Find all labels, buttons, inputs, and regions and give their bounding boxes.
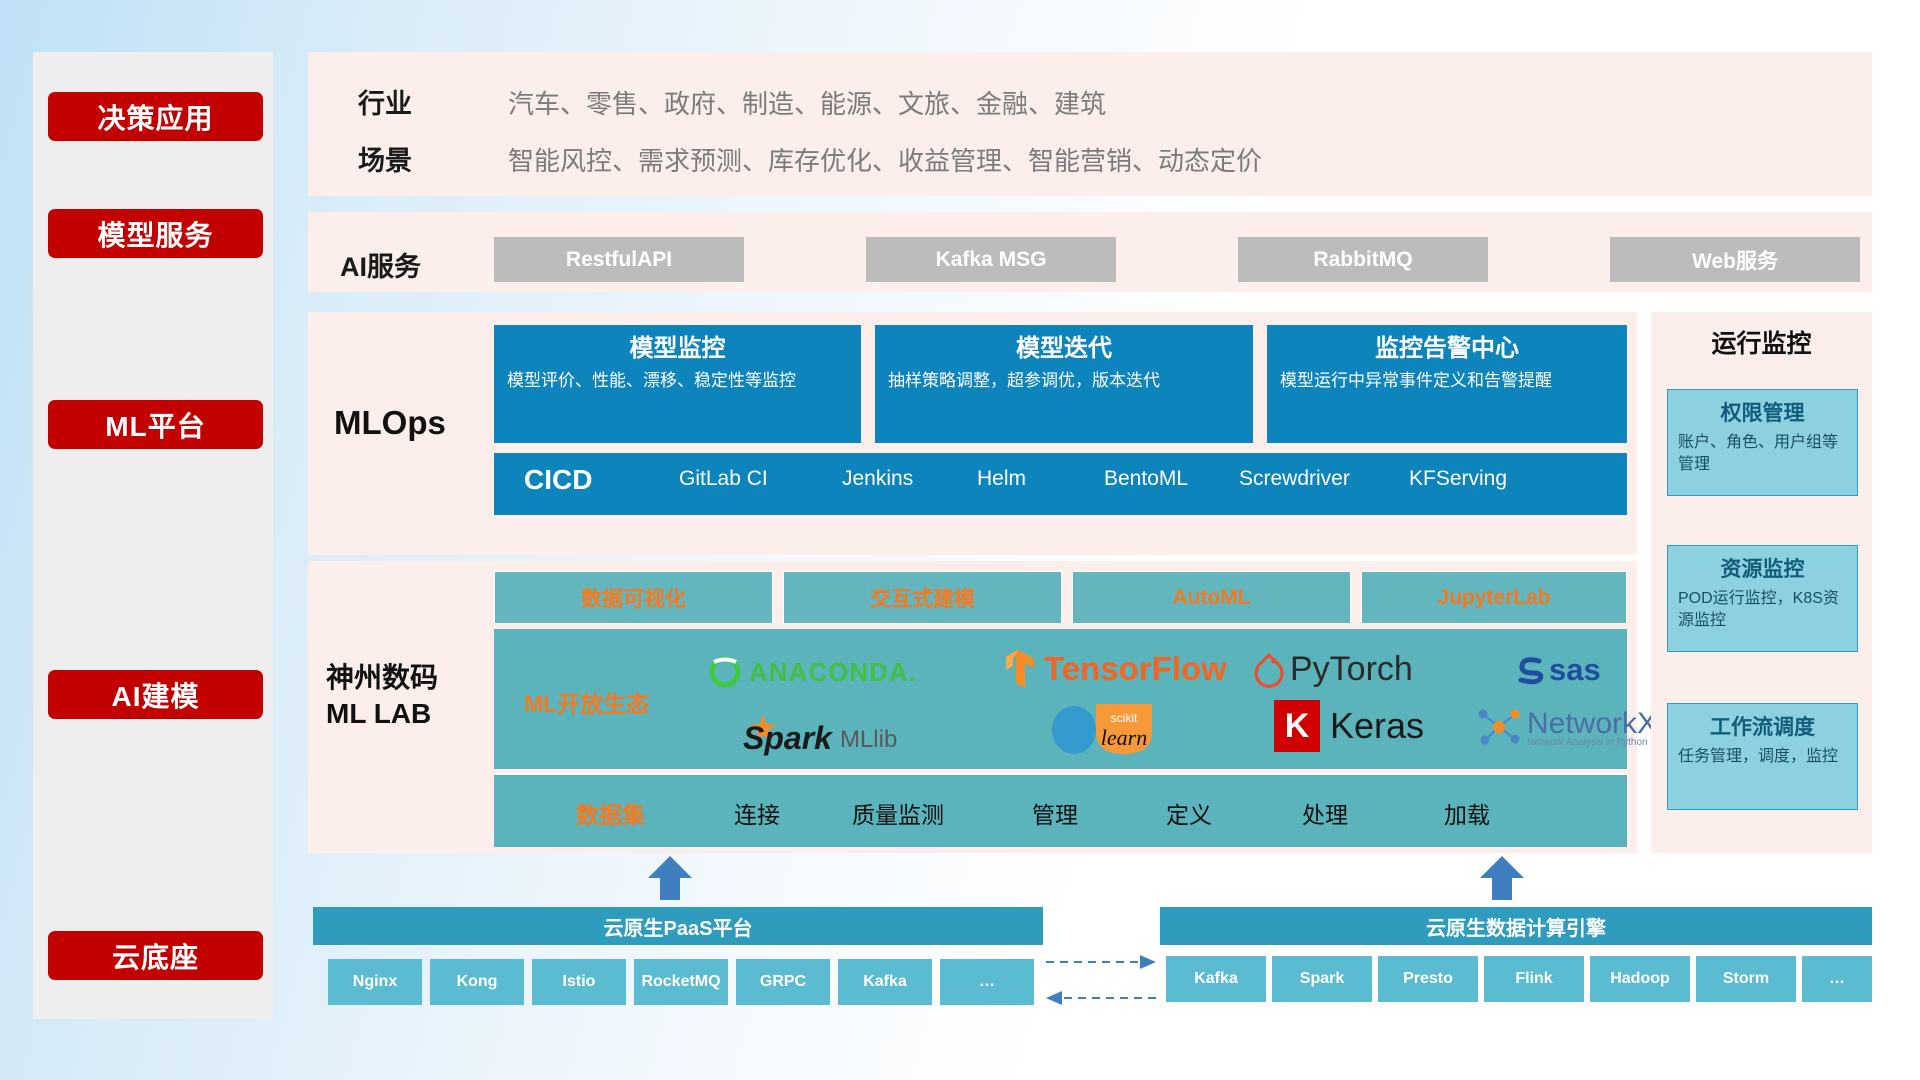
mlops-card-model-monitoring[interactable]: 模型监控 模型评价、性能、漂移、稳定性等监控 (494, 325, 861, 443)
tab-label: 交互式建模 (870, 583, 975, 613)
cicd-item-bentoml[interactable]: BentoML (1104, 467, 1224, 491)
ml-lab-label: 神州数码 ML LAB (326, 660, 438, 733)
chip-label: … (1829, 970, 1845, 988)
spark-wordmark: Spark (743, 720, 832, 757)
card-title: 权限管理 (1678, 397, 1847, 427)
mllib-wordmark: MLlib (840, 726, 897, 754)
chip-label: Kong (457, 973, 498, 991)
layer-pill-aimodeling[interactable]: AI建模 (48, 670, 263, 719)
cicd-item-kfserving[interactable]: KFServing (1409, 467, 1529, 491)
chip-label: Kafka (863, 973, 907, 991)
chip-nginx[interactable]: Nginx (328, 959, 422, 1005)
paas-platform-bar[interactable]: 云原生PaaS平台 (313, 907, 1043, 945)
card-desc: 任务管理，调度，监控 (1678, 746, 1847, 768)
tab-data-visualization[interactable]: 数据可视化 (494, 571, 773, 624)
paas-platform-label: 云原生PaaS平台 (604, 912, 753, 941)
chip-grpc[interactable]: GRPC (736, 959, 830, 1005)
monitor-card-workflow[interactable]: 工作流调度 任务管理，调度，监控 (1667, 703, 1858, 810)
cicd-item-helm[interactable]: Helm (977, 467, 1097, 491)
service-label: Kafka MSG (936, 248, 1047, 272)
svg-text:scikit: scikit (1111, 711, 1138, 725)
networkx-logo: NetworkX Network Analysis in Python (1477, 706, 1657, 748)
layer-label: 模型服务 (97, 214, 213, 254)
dataset-item-quality[interactable]: 质量监测 (852, 796, 944, 830)
layer-label: AI建模 (111, 675, 199, 715)
service-box-restfulapi[interactable]: RestfulAPI (494, 237, 744, 282)
networkx-wordmark: NetworkX (1527, 707, 1657, 741)
ml-lab-label-line1: 神州数码 (326, 660, 438, 696)
layer-label: 云底座 (112, 936, 199, 976)
chip-label: RocketMQ (641, 973, 720, 991)
tensorflow-wordmark: TensorFlow (1044, 650, 1227, 688)
chip-hadoop[interactable]: Hadoop (1590, 956, 1690, 1002)
layer-pill-cloudbase[interactable]: 云底座 (48, 931, 263, 980)
tensorflow-logo: TensorFlow (1000, 648, 1227, 690)
chip-label: Presto (1403, 970, 1453, 988)
card-desc: POD运行监控，K8S资源监控 (1678, 588, 1847, 631)
sas-logo: sas (1513, 652, 1601, 688)
card-desc: 模型运行中异常事件定义和告警提醒 (1280, 369, 1614, 393)
ml-lab-label-line2: ML LAB (326, 696, 438, 732)
networkx-mark-icon (1477, 706, 1521, 748)
tab-label: 数据可视化 (581, 583, 686, 613)
scikit-learn-mark-icon: scikit learn (1048, 700, 1176, 756)
chip-label: Flink (1515, 970, 1552, 988)
service-label: RabbitMQ (1313, 248, 1412, 272)
chip-kafka-right[interactable]: Kafka (1166, 956, 1266, 1002)
chip-spark[interactable]: Spark (1272, 956, 1372, 1002)
chip-kafka[interactable]: Kafka (838, 959, 932, 1005)
mlops-card-alert-center[interactable]: 监控告警中心 模型运行中异常事件定义和告警提醒 (1267, 325, 1627, 443)
data-engine-bar[interactable]: 云原生数据计算引擎 (1160, 907, 1872, 945)
chip-istio[interactable]: Istio (532, 959, 626, 1005)
card-title: 模型监控 (507, 334, 848, 364)
layer-pill-mlplatform[interactable]: ML平台 (48, 400, 263, 449)
keras-logo: K Keras (1274, 700, 1424, 752)
service-box-webservice[interactable]: Web服务 (1610, 237, 1860, 282)
chip-label: Hadoop (1610, 970, 1670, 988)
pytorch-wordmark: PyTorch (1290, 650, 1413, 689)
cicd-row: CICD GitLab CI Jenkins Helm BentoML Scre… (494, 453, 1627, 515)
layer-label: ML平台 (105, 405, 205, 445)
industry-row-label: 行业 (358, 82, 412, 121)
scenario-row-text: 智能风控、需求预测、库存优化、收益管理、智能营销、动态定价 (508, 141, 1262, 178)
card-desc: 模型评价、性能、漂移、稳定性等监控 (507, 369, 848, 393)
layer-rail (33, 52, 273, 1019)
arrow-up-engine-icon (1472, 854, 1532, 900)
layer-label: 决策应用 (97, 97, 213, 137)
card-desc: 抽样策略调整，超参调优，版本迭代 (888, 369, 1240, 393)
chip-label: Storm (1723, 970, 1769, 988)
chip-rocketmq[interactable]: RocketMQ (634, 959, 728, 1005)
dataset-item-load[interactable]: 加载 (1444, 796, 1490, 830)
service-label: RestfulAPI (566, 248, 672, 272)
card-title: 监控告警中心 (1280, 334, 1614, 364)
arrow-up-paas-icon (640, 854, 700, 900)
cicd-item-jenkins[interactable]: Jenkins (842, 467, 962, 491)
chip-label: Istio (563, 973, 596, 991)
dataset-label: 数据集 (576, 796, 645, 830)
mlops-card-model-iteration[interactable]: 模型迭代 抽样策略调整，超参调优，版本迭代 (875, 325, 1253, 443)
svg-text:learn: learn (1101, 725, 1147, 750)
dataset-row: 数据集 连接 质量监测 管理 定义 处理 加载 (494, 773, 1627, 847)
card-title: 模型迭代 (888, 334, 1240, 364)
cicd-item-gitlab[interactable]: GitLab CI (679, 467, 799, 491)
tab-automl[interactable]: AutoML (1072, 571, 1351, 624)
networkx-tagline: Network Analysis in Python (1527, 737, 1657, 748)
chip-label: Kafka (1194, 970, 1238, 988)
spark-mllib-logo: Spark MLlib (735, 708, 897, 757)
architecture-diagram: 决策应用 模型服务 ML平台 AI建模 云底座 行业 汽车、零售、政府、制造、能… (0, 0, 1920, 1080)
chip-presto[interactable]: Presto (1378, 956, 1478, 1002)
dataset-item-connect[interactable]: 连接 (734, 796, 780, 830)
runtime-monitor-title: 运行监控 (1651, 324, 1872, 360)
card-desc: 账户、角色、用户组等管理 (1678, 432, 1847, 475)
chip-more-left[interactable]: … (940, 959, 1034, 1005)
card-title: 资源监控 (1678, 553, 1847, 583)
cicd-item-screwdriver[interactable]: Screwdriver (1239, 467, 1359, 491)
scikit-learn-logo: scikit learn (1048, 700, 1176, 756)
tab-label: AutoML (1172, 586, 1250, 610)
service-box-rabbitmq[interactable]: RabbitMQ (1238, 237, 1488, 282)
scenario-row-label: 场景 (358, 139, 412, 178)
chip-label: Nginx (353, 973, 397, 991)
keras-wordmark: Keras (1330, 705, 1424, 747)
tab-label: JupyterLab (1437, 586, 1550, 610)
keras-mark-icon: K (1274, 700, 1320, 752)
ai-service-label: AI服务 (340, 245, 421, 284)
sas-mark-icon (1513, 654, 1547, 686)
bidirectional-link-icon (1046, 950, 1156, 1010)
chip-more-right[interactable]: … (1802, 956, 1872, 1002)
ml-ecosystem-label: ML开放生态 (524, 685, 649, 719)
data-engine-label: 云原生数据计算引擎 (1426, 912, 1606, 941)
layer-pill-modelsvc[interactable]: 模型服务 (48, 209, 263, 258)
dataset-item-process[interactable]: 处理 (1302, 796, 1348, 830)
sas-wordmark: sas (1549, 652, 1601, 688)
mlops-label: MLOps (334, 404, 446, 442)
service-label: Web服务 (1692, 245, 1778, 275)
tab-interactive-modeling[interactable]: 交互式建模 (783, 571, 1062, 624)
service-box-kafka[interactable]: Kafka MSG (866, 237, 1116, 282)
monitor-card-permission[interactable]: 权限管理 账户、角色、用户组等管理 (1667, 389, 1858, 496)
industry-row-text: 汽车、零售、政府、制造、能源、文旅、金融、建筑 (508, 84, 1106, 121)
dataset-item-define[interactable]: 定义 (1166, 796, 1212, 830)
monitor-card-resource[interactable]: 资源监控 POD运行监控，K8S资源监控 (1667, 545, 1858, 652)
chip-label: GRPC (760, 973, 806, 991)
anaconda-mark-icon (708, 655, 742, 689)
tensorflow-mark-icon (1000, 648, 1040, 690)
dataset-item-manage[interactable]: 管理 (1032, 796, 1078, 830)
tab-jupyterlab[interactable]: JupyterLab (1361, 571, 1627, 624)
pytorch-logo: PyTorch (1253, 650, 1413, 689)
chip-storm[interactable]: Storm (1696, 956, 1796, 1002)
cicd-label: CICD (524, 464, 634, 496)
chip-kong[interactable]: Kong (430, 959, 524, 1005)
pytorch-mark-icon (1253, 652, 1285, 688)
chip-label: Spark (1300, 970, 1344, 988)
chip-label: … (979, 973, 995, 991)
layer-pill-decision[interactable]: 决策应用 (48, 92, 263, 141)
chip-flink[interactable]: Flink (1484, 956, 1584, 1002)
card-title: 工作流调度 (1678, 711, 1847, 741)
anaconda-logo: ANACONDA. (708, 655, 917, 689)
anaconda-wordmark: ANACONDA. (749, 657, 917, 688)
